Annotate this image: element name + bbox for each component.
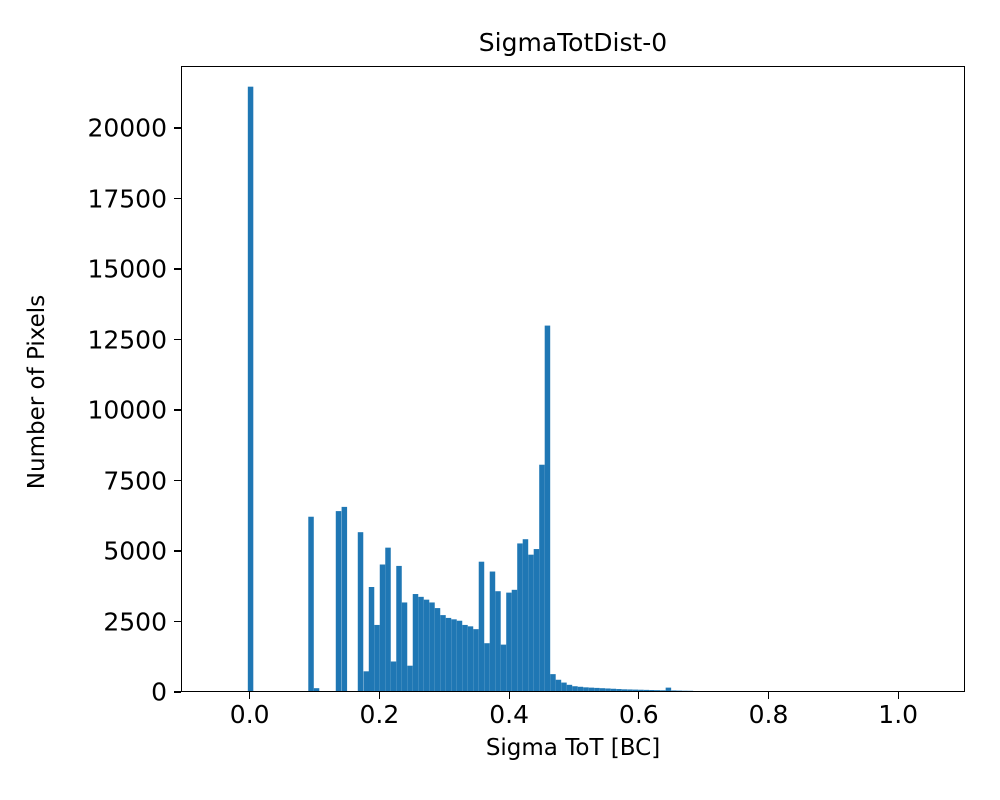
x-tick-label: 0.6 [619, 700, 659, 729]
x-tick-label: 0.2 [360, 700, 400, 729]
y-tick-label: 7500 [103, 466, 167, 495]
histogram-bar [567, 685, 572, 691]
histogram-bar [446, 618, 451, 691]
histogram-bar [407, 666, 412, 691]
figure-canvas: SigmaTotDist-0 0250050007500100001250015… [0, 0, 1000, 800]
y-tick-mark [174, 480, 181, 481]
histogram-bar [616, 689, 621, 691]
histogram-bar [523, 539, 528, 691]
histogram-bar [517, 543, 522, 691]
histogram-bar [424, 600, 429, 691]
histogram-bar [605, 688, 610, 691]
histogram-bar [655, 690, 660, 691]
histogram-bar [561, 683, 566, 691]
histogram-bar [342, 507, 347, 691]
histogram-bar [429, 602, 434, 691]
y-axis-tick-labels: 02500500075001000012500150001750020000 [30, 0, 167, 800]
chart-title: SigmaTotDist-0 [181, 28, 965, 57]
y-tick-mark [174, 268, 181, 269]
histogram-bar [369, 587, 374, 691]
histogram-bar [578, 687, 583, 691]
y-tick-mark [174, 691, 181, 692]
histogram-bar [440, 615, 445, 691]
histogram-bar [391, 661, 396, 691]
y-tick-label: 15000 [87, 255, 167, 284]
histogram-bar [622, 689, 627, 691]
histogram-bar [550, 674, 555, 691]
histogram-bar [358, 532, 363, 691]
histogram-bar [396, 566, 401, 691]
histogram-bar [528, 555, 533, 691]
histogram-bar [457, 621, 462, 691]
y-tick-mark [174, 621, 181, 622]
y-tick-label: 20000 [87, 114, 167, 143]
histogram-bar [364, 671, 369, 691]
x-tick-mark [379, 692, 380, 699]
y-tick-mark [174, 339, 181, 340]
histogram-bar [380, 565, 385, 691]
histogram-bar [534, 549, 539, 691]
y-tick-mark [174, 550, 181, 551]
histogram-bar [402, 602, 407, 691]
y-tick-mark [174, 198, 181, 199]
x-axis-label: Sigma ToT [BC] [181, 735, 965, 761]
histogram-bar [495, 591, 500, 691]
histogram-bar [594, 688, 599, 691]
histogram-bar [572, 686, 577, 691]
histogram-bar [671, 690, 676, 691]
y-tick-label: 2500 [103, 607, 167, 636]
y-tick-mark [174, 127, 181, 128]
histogram-bar [435, 608, 440, 691]
histogram-bar [473, 629, 478, 691]
histogram-bar [666, 688, 671, 691]
histogram-bar [583, 687, 588, 691]
x-tick-label: 0.4 [489, 700, 529, 729]
histogram-bar [418, 597, 423, 691]
x-tick-mark [638, 692, 639, 699]
histogram-bar [611, 689, 616, 691]
y-tick-label: 17500 [87, 184, 167, 213]
histogram-bar [501, 645, 506, 691]
y-tick-label: 12500 [87, 325, 167, 354]
y-tick-mark [174, 409, 181, 410]
histogram-bar [451, 619, 456, 691]
x-tick-mark [898, 692, 899, 699]
histogram-bar [484, 643, 489, 691]
y-tick-label: 10000 [87, 396, 167, 425]
histogram-bar [385, 548, 390, 691]
x-tick-label: 1.0 [878, 700, 918, 729]
y-tick-label: 5000 [103, 537, 167, 566]
histogram-bar [336, 511, 341, 691]
x-tick-label: 0.0 [230, 700, 270, 729]
histogram-bar [660, 690, 665, 691]
histogram-bar [314, 688, 319, 691]
histogram-bars [182, 67, 964, 691]
y-axis-label: Number of Pixels [24, 192, 50, 592]
histogram-bar [479, 562, 484, 691]
histogram-bar [512, 590, 517, 691]
histogram-bar [644, 690, 649, 691]
histogram-bar [506, 593, 511, 691]
histogram-bar [545, 326, 550, 691]
x-tick-mark [249, 692, 250, 699]
x-tick-label: 0.8 [749, 700, 789, 729]
histogram-bar [490, 572, 495, 691]
x-tick-mark [509, 692, 510, 699]
histogram-bar [248, 87, 253, 691]
histogram-bar [600, 688, 605, 691]
histogram-bar [627, 689, 632, 691]
histogram-bar [462, 625, 467, 691]
histogram-bar [556, 680, 561, 691]
plot-area [181, 66, 965, 692]
histogram-bar [649, 690, 654, 691]
y-tick-label: 0 [151, 678, 167, 707]
histogram-bar [308, 517, 313, 691]
histogram-bar [468, 626, 473, 691]
histogram-bar [413, 594, 418, 691]
histogram-bar [589, 688, 594, 691]
histogram-bar [633, 690, 638, 691]
histogram-bar [539, 465, 544, 691]
histogram-bar [374, 625, 379, 691]
histogram-bar [638, 690, 643, 691]
x-tick-mark [768, 692, 769, 699]
